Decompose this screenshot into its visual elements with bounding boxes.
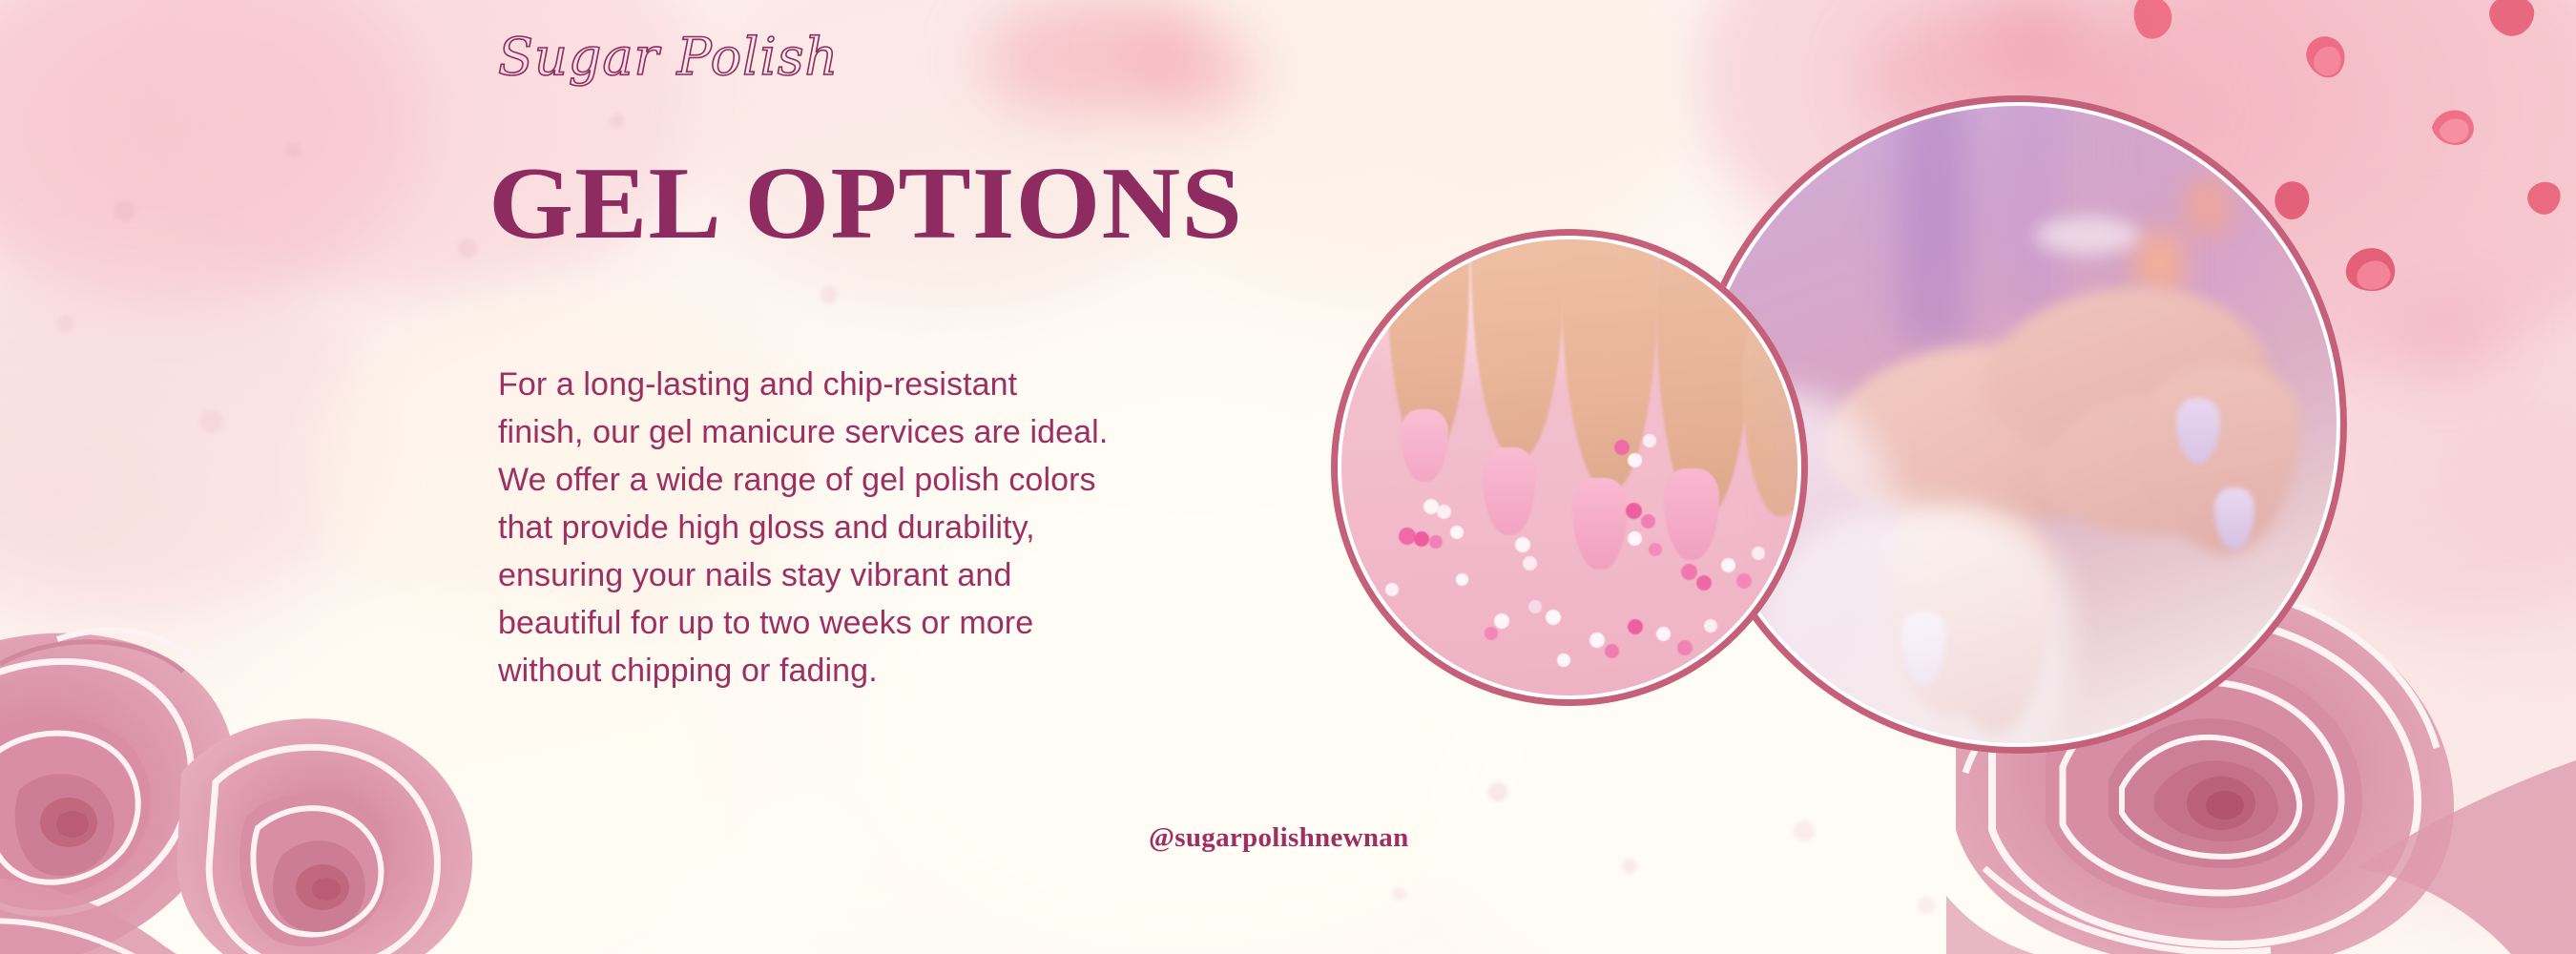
body-line: that provide high gloss and durability, xyxy=(498,504,1204,551)
brand-logo-text: Sugar Polish xyxy=(498,27,839,87)
rose-petal-icon xyxy=(2428,105,2480,149)
body-line: beautiful for up to two weeks or more xyxy=(498,599,1204,647)
body-line: ensuring your nails stay vibrant and xyxy=(498,551,1204,599)
social-handle: @sugarpolishnewnan xyxy=(1149,822,1409,854)
rose-petal-icon xyxy=(2133,0,2175,44)
rose-petal-icon xyxy=(2342,243,2401,295)
body-line: For a long-lasting and chip-resistant xyxy=(498,361,1204,408)
body-line: finish, our gel manicure services are id… xyxy=(498,408,1204,456)
promotional-banner: Sugar Polish GEL OPTIONS For a long-last… xyxy=(0,0,2576,954)
rose-illustration-bottom-left xyxy=(0,572,553,954)
photo-pink-gel-manicure xyxy=(1341,239,1797,695)
rose-petal-icon xyxy=(2522,177,2564,219)
photo-circle-small xyxy=(1331,229,1808,706)
body-copy: For a long-lasting and chip-resistant fi… xyxy=(498,361,1204,695)
rose-petal-icon xyxy=(2301,31,2357,87)
rose-petal-icon xyxy=(2481,0,2538,42)
body-line: We offer a wide range of gel polish colo… xyxy=(498,456,1204,504)
brand-logo: Sugar Polish xyxy=(494,27,819,95)
page-title: GEL OPTIONS xyxy=(488,153,1243,256)
body-line: without chipping or fading. xyxy=(498,647,1204,695)
